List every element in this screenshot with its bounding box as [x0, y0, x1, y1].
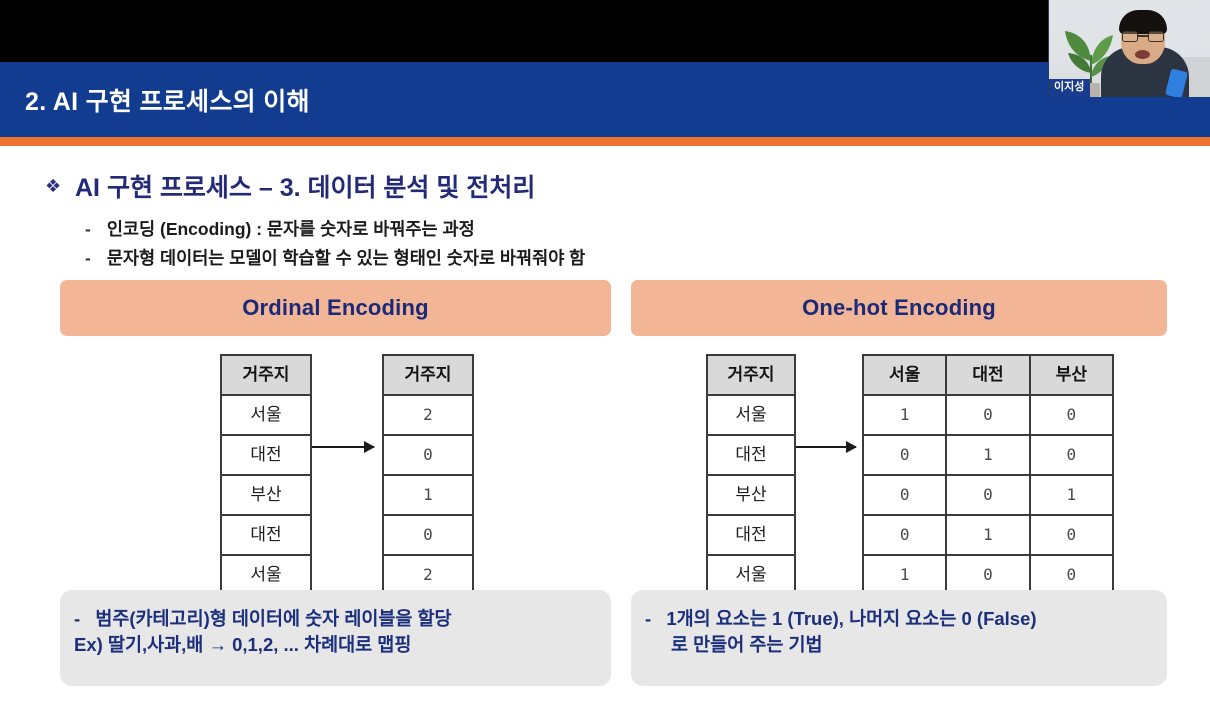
table-column-header: 거주지 [383, 355, 473, 395]
table-row: 서울 [707, 555, 795, 595]
note-box-ordinal: - 범주(카테고리)형 데이터에 숫자 레이블을 할당 Ex) 딸기,사과,배 … [60, 590, 611, 686]
transform-arrow-icon [312, 446, 374, 448]
note-line: - 범주(카테고리)형 데이터에 숫자 레이블을 할당 [74, 606, 593, 632]
table-cell: 서울 [707, 395, 795, 435]
table-cell: 0 [1030, 395, 1113, 435]
table-row: 대전 [707, 515, 795, 555]
table-cell: 대전 [707, 515, 795, 555]
table-cell: 0 [863, 435, 946, 475]
table-cell: 1 [863, 395, 946, 435]
table-cell: 1 [946, 515, 1029, 555]
table-row: 서울 [221, 555, 311, 595]
sub-bullet-item: - 인코딩 (Encoding) : 문자를 숫자로 바꿔주는 과정 [85, 216, 475, 241]
note-box-onehot: - 1개의 요소는 1 (True), 나머지 요소는 0 (False) 로 … [631, 590, 1167, 686]
table-cell: 부산 [707, 475, 795, 515]
note-line: 로 만들어 주는 기법 [671, 632, 1149, 658]
dash-bullet-icon: - [74, 608, 80, 629]
sub-bullet-item: - 문자형 데이터는 모델이 학습할 수 있는 형태인 숫자로 바꿔줘야 함 [85, 245, 585, 270]
table-row: 서울 [221, 395, 311, 435]
table-row: 1 [383, 475, 473, 515]
table-onehot-result: 서울대전부산100010001010100 [862, 354, 1114, 596]
panel-onehot-encoding: One-hot Encoding 거주지서울대전부산대전서울 서울대전부산100… [631, 280, 1167, 568]
note-line: - 1개의 요소는 1 (True), 나머지 요소는 0 (False) [645, 606, 1149, 632]
panel-title-ordinal: Ordinal Encoding [242, 295, 429, 321]
table-cell: 1 [383, 475, 473, 515]
table-row: 2 [383, 395, 473, 435]
table-column-header: 부산 [1030, 355, 1113, 395]
table-cell: 1 [863, 555, 946, 595]
orange-divider-rule [0, 137, 1210, 146]
table-header-row: 거주지 [221, 355, 311, 395]
table-ordinal-result: 거주지20102 [382, 354, 474, 596]
table-row: 0 [383, 435, 473, 475]
table-row: 부산 [707, 475, 795, 515]
table-ordinal-source: 거주지서울대전부산대전서울 [220, 354, 312, 596]
transform-arrow-icon [796, 446, 856, 448]
table-column-header: 서울 [863, 355, 946, 395]
presenter-nametag: 이지성 [1049, 79, 1090, 97]
note-line-text: 범주(카테고리)형 데이터에 숫자 레이블을 할당 [95, 608, 451, 629]
table-cell: 부산 [221, 475, 311, 515]
table-row: 0 [383, 515, 473, 555]
table-cell: 서울 [221, 555, 311, 595]
table-cell: 0 [946, 555, 1029, 595]
table-row: 대전 [221, 515, 311, 555]
note-line-text: 로 만들어 주는 기법 [671, 634, 823, 655]
table-cell: 2 [383, 555, 473, 595]
table-cell: 1 [946, 435, 1029, 475]
table-row: 대전 [707, 435, 795, 475]
dash-bullet-icon: - [85, 219, 91, 240]
slide-content-area: ❖ AI 구현 프로세스 – 3. 데이터 분석 및 전처리 - 인코딩 (En… [0, 146, 1210, 711]
table-header-row: 거주지 [383, 355, 473, 395]
table-cell: 0 [383, 515, 473, 555]
table-column-header: 대전 [946, 355, 1029, 395]
diamond-bullet-icon: ❖ [45, 178, 61, 194]
table-cell: 대전 [221, 515, 311, 555]
table-cell: 0 [1030, 435, 1113, 475]
table-cell: 0 [946, 395, 1029, 435]
sub-bullet-label: 인코딩 (Encoding) : 문자를 숫자로 바꿔주는 과정 [107, 216, 475, 241]
table-row: 100 [863, 395, 1113, 435]
section-title: 2. AI 구현 프로세스의 이해 [25, 82, 310, 118]
panel-title-onehot: One-hot Encoding [802, 295, 996, 321]
table-onehot-source: 거주지서울대전부산대전서울 [706, 354, 796, 596]
panel-ordinal-encoding: Ordinal Encoding 거주지서울대전부산대전서울 거주지20102 [60, 280, 611, 568]
table-header-row: 서울대전부산 [863, 355, 1113, 395]
table-row: 010 [863, 515, 1113, 555]
note-line-text: 1개의 요소는 1 (True), 나머지 요소는 0 (False) [666, 608, 1036, 629]
table-cell: 대전 [221, 435, 311, 475]
table-row: 001 [863, 475, 1113, 515]
panel-title-bar-onehot: One-hot Encoding [631, 280, 1167, 336]
table-header-row: 거주지 [707, 355, 795, 395]
diagram-ordinal: 거주지서울대전부산대전서울 거주지20102 [60, 336, 611, 568]
table-cell: 0 [1030, 555, 1113, 595]
table-cell: 0 [946, 475, 1029, 515]
table-row: 대전 [221, 435, 311, 475]
presenter-mouth [1135, 50, 1150, 59]
table-column-header: 거주지 [707, 355, 795, 395]
dash-bullet-icon: - [645, 608, 651, 629]
slide-heading-text: AI 구현 프로세스 – 3. 데이터 분석 및 전처리 [75, 168, 535, 204]
diagram-onehot: 거주지서울대전부산대전서울 서울대전부산100010001010100 [631, 336, 1167, 568]
dash-bullet-icon: - [85, 248, 91, 269]
table-column-header: 거주지 [221, 355, 311, 395]
table-cell: 서울 [707, 555, 795, 595]
presenter-webcam-overlay[interactable]: 이지성 [1048, 0, 1210, 97]
top-letterbox-band [0, 0, 1210, 62]
panel-title-bar-ordinal: Ordinal Encoding [60, 280, 611, 336]
table-cell: 0 [863, 475, 946, 515]
table-row: 010 [863, 435, 1113, 475]
table-cell: 대전 [707, 435, 795, 475]
table-cell: 서울 [221, 395, 311, 435]
sub-bullet-label: 문자형 데이터는 모델이 학습할 수 있는 형태인 숫자로 바꿔줘야 함 [107, 245, 585, 270]
table-row: 서울 [707, 395, 795, 435]
note-line-text: Ex) 딸기,사과,배 → 0,1,2, ... 차례대로 맵핑 [74, 634, 411, 655]
table-row: 100 [863, 555, 1113, 595]
table-cell: 1 [1030, 475, 1113, 515]
table-cell: 0 [383, 435, 473, 475]
table-row: 2 [383, 555, 473, 595]
table-cell: 0 [1030, 515, 1113, 555]
table-cell: 0 [863, 515, 946, 555]
table-cell: 2 [383, 395, 473, 435]
slide-heading: ❖ AI 구현 프로세스 – 3. 데이터 분석 및 전처리 [45, 168, 535, 204]
table-row: 부산 [221, 475, 311, 515]
note-line: Ex) 딸기,사과,배 → 0,1,2, ... 차례대로 맵핑 [74, 632, 593, 658]
section-header-band: 2. AI 구현 프로세스의 이해 [0, 62, 1210, 137]
glasses-icon [1122, 31, 1164, 42]
